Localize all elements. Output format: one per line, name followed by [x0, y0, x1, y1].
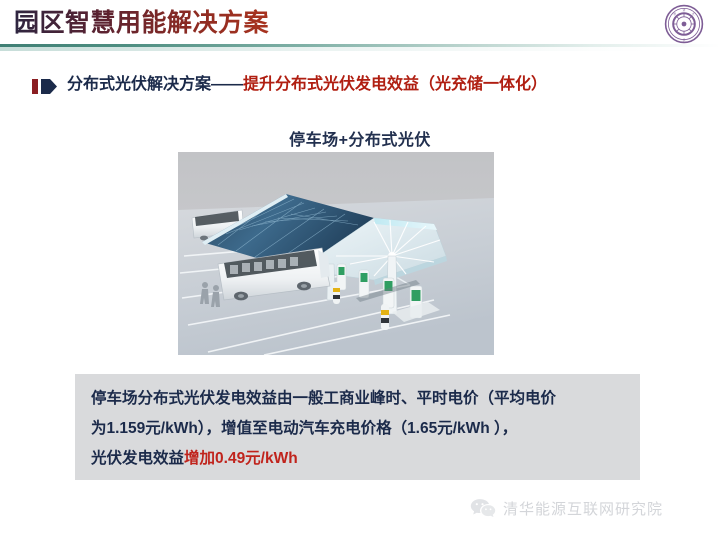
- callout-line-2: 为1.159元/kWh），增值至电动汽车充电价格（1.65元/kWh ），: [91, 414, 624, 444]
- callout-line-3-highlight: 增加0.49元/kWh: [184, 450, 298, 467]
- svg-text:清: 清: [683, 8, 686, 12]
- slide-header: 园区智慧用能解决方案 清 华 大 学: [0, 0, 720, 52]
- tsinghua-seal-icon: 清 华 大 学: [664, 4, 704, 44]
- header-divider-shadow: [0, 47, 720, 51]
- solar-carport-photo: [178, 152, 494, 355]
- watermark-text: 清华能源互联网研究院: [503, 498, 663, 519]
- callout-line-3-dark: 光伏发电效益: [91, 450, 184, 467]
- svg-text:大: 大: [692, 12, 695, 16]
- callout-box: 停车场分布式光伏发电效益由一般工商业峰时、平时电价（平均电价 为1.159元/k…: [75, 374, 640, 480]
- subtitle-red-text: 提升分布式光伏发电效益（光充储一体化）: [243, 75, 547, 95]
- watermark: 清华能源互联网研究院: [470, 494, 663, 522]
- section-subtitle: 分布式光伏解决方案—— 提升分布式光伏发电效益（光充储一体化）: [32, 72, 547, 98]
- svg-text:华: 华: [673, 12, 676, 16]
- photo-caption: 停车场+分布式光伏: [0, 126, 720, 150]
- wechat-icon: [470, 497, 496, 519]
- page-title: 园区智慧用能解决方案: [14, 8, 269, 38]
- callout-line-3: 光伏发电效益增加0.49元/kWh: [91, 444, 624, 474]
- section-bullet-marker-icon: [32, 79, 58, 94]
- subtitle-dark-text: 分布式光伏解决方案——: [67, 75, 243, 95]
- callout-line-1: 停车场分布式光伏发电效益由一般工商业峰时、平时电价（平均电价: [91, 384, 624, 414]
- svg-text:学: 学: [683, 38, 686, 42]
